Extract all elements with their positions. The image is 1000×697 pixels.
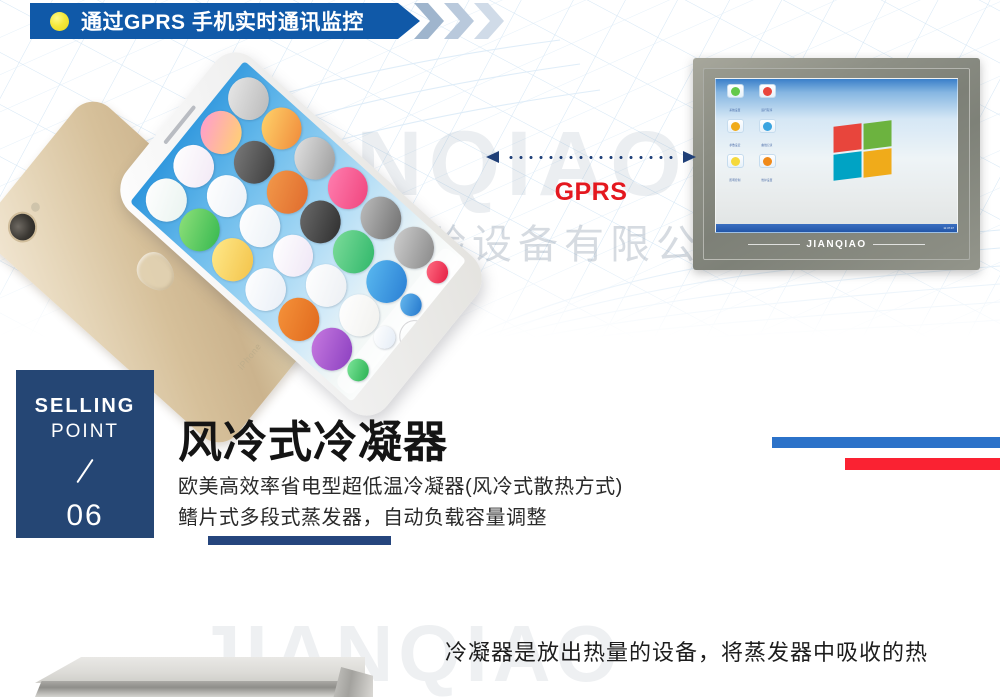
gprs-link-indicator: GPRS xyxy=(486,150,696,210)
banner-title: 通过GPRS 手机实时通讯监控 xyxy=(81,6,364,36)
machine-top-surface xyxy=(35,657,365,683)
dotted-line xyxy=(506,156,676,159)
camera-icon xyxy=(5,208,41,246)
chevron-right-icon xyxy=(444,3,474,39)
selling-point-badge: SELLING POINT 06 xyxy=(16,370,154,538)
title-underline xyxy=(208,536,391,545)
page-title: 风冷式冷凝器 xyxy=(178,406,448,470)
phone-model-caption: iPhone xyxy=(233,338,266,376)
hmi-clock: 11:47:47 xyxy=(943,226,954,230)
hmi-brand-name: JIANQIAO xyxy=(806,239,866,250)
hmi-taskbar: 11:47:47 xyxy=(716,224,957,232)
gear-icon xyxy=(759,154,776,168)
system-settings-icon xyxy=(727,84,744,98)
smartphone-illustration: iPhone xyxy=(55,45,455,305)
hmi-icon-list: 系统设置 运行程序 参数设定 曲线记录 xyxy=(720,84,782,219)
hmi-icon-label: 系统设置 xyxy=(729,109,740,112)
hmi-bezel: 系统设置 运行程序 参数设定 曲线记录 xyxy=(703,68,970,260)
arrow-left-icon xyxy=(486,151,499,163)
hmi-icon-item[interactable]: 运行程序 xyxy=(752,84,782,116)
slash-divider-icon xyxy=(76,459,93,483)
feature-description-line1: 欧美高效率省电型超低温冷凝器(风冷式散热方式) xyxy=(178,472,623,503)
feature-description: 欧美高效率省电型超低温冷凝器(风冷式散热方式) 鳍片式多段式蒸发器，自动负载容量… xyxy=(178,472,623,534)
hmi-display[interactable]: 系统设置 运行程序 参数设定 曲线记录 xyxy=(715,78,958,233)
flash-icon xyxy=(29,201,41,214)
hmi-brand-plate: JIANQIAO xyxy=(715,233,958,255)
double-arrow-icon xyxy=(486,150,696,164)
hmi-icon-label: 参数设定 xyxy=(729,144,740,147)
condenser-machine-image xyxy=(35,657,385,697)
hmi-icon-label: 照明控制 xyxy=(729,179,740,182)
parameter-icon xyxy=(727,119,744,133)
selling-point-number: 06 xyxy=(66,499,103,533)
hmi-icon-item[interactable]: 系统设置 xyxy=(720,84,750,116)
brand-divider-right xyxy=(873,244,925,245)
brand-divider-left xyxy=(748,244,800,245)
hmi-icon-item[interactable]: 照明控制 xyxy=(720,154,750,186)
accent-bar-blue xyxy=(772,437,1000,448)
selling-label: SELLING xyxy=(35,395,136,418)
feature-description-line2: 鳍片式多段式蒸发器，自动负载容量调整 xyxy=(178,503,623,534)
bottom-paragraph: 冷凝器是放出热量的设备，将蒸发器中吸收的热 xyxy=(445,635,928,667)
curve-chart-icon xyxy=(759,119,776,133)
program-run-icon xyxy=(759,84,776,98)
windows-logo-icon xyxy=(833,125,891,179)
hmi-icon-label: 运行程序 xyxy=(761,109,772,112)
lamp-icon xyxy=(727,154,744,168)
hmi-icon-item[interactable]: 曲线记录 xyxy=(752,119,782,151)
chevron-right-icon xyxy=(474,3,504,39)
yellow-dot-icon xyxy=(50,12,69,31)
banner-arrow-block: 通过GPRS 手机实时通讯监控 xyxy=(30,3,420,39)
machine-front-edge xyxy=(35,681,365,697)
hmi-touch-panel: 系统设置 运行程序 参数设定 曲线记录 xyxy=(693,58,980,270)
hmi-desktop: 系统设置 运行程序 参数设定 曲线记录 xyxy=(716,79,957,224)
gprs-label: GPRS xyxy=(486,178,696,207)
accent-bar-red xyxy=(845,458,1000,470)
hmi-icon-label: 曲线记录 xyxy=(761,144,772,147)
point-label: POINT xyxy=(51,421,119,443)
apple-logo-icon xyxy=(131,246,182,299)
product-detail-page: JIANQIAO 广东剑乔试验设备有限公司 JIANQIAO 通过GPRS 手机… xyxy=(0,0,1000,697)
hmi-icon-item[interactable]: 维护设置 xyxy=(752,154,782,186)
hmi-icon-item[interactable]: 参数设定 xyxy=(720,119,750,151)
arrow-right-icon xyxy=(683,151,696,163)
hmi-icon-label: 维护设置 xyxy=(761,179,772,182)
